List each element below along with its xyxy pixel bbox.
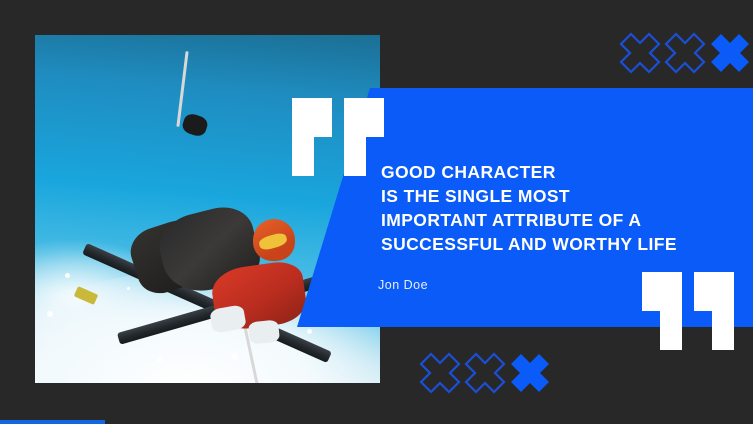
skier-boot [209,304,247,334]
x-outline-icon [664,32,706,74]
skier-figure [35,35,380,383]
open-quote-icon [292,98,384,176]
skier-glove [180,112,209,138]
x-cluster-bottom-center [419,352,551,394]
quote-line: IMPORTANT ATTRIBUTE OF A [381,208,731,232]
x-cluster-top-right [619,32,751,74]
close-quote-icon [642,272,734,350]
quote-line: GOOD CHARACTER [381,160,731,184]
bottom-left-accent-bar [0,420,105,424]
ski-tip-left [74,286,99,305]
quote-text: GOOD CHARACTER IS THE SINGLE MOST IMPORT… [381,160,731,256]
x-outline-icon [464,352,506,394]
x-outline-icon [619,32,661,74]
x-outline-icon [419,352,461,394]
quote-line: IS THE SINGLE MOST [381,184,731,208]
quote-slide: GOOD CHARACTER IS THE SINGLE MOST IMPORT… [0,0,753,424]
quote-line: SUCCESSFUL AND WORTHY LIFE [381,232,731,256]
x-filled-icon [509,352,551,394]
x-filled-icon [709,32,751,74]
skier-boot [248,319,280,344]
skier-jump-photo [35,35,380,383]
quote-author: Jon Doe [378,278,428,292]
